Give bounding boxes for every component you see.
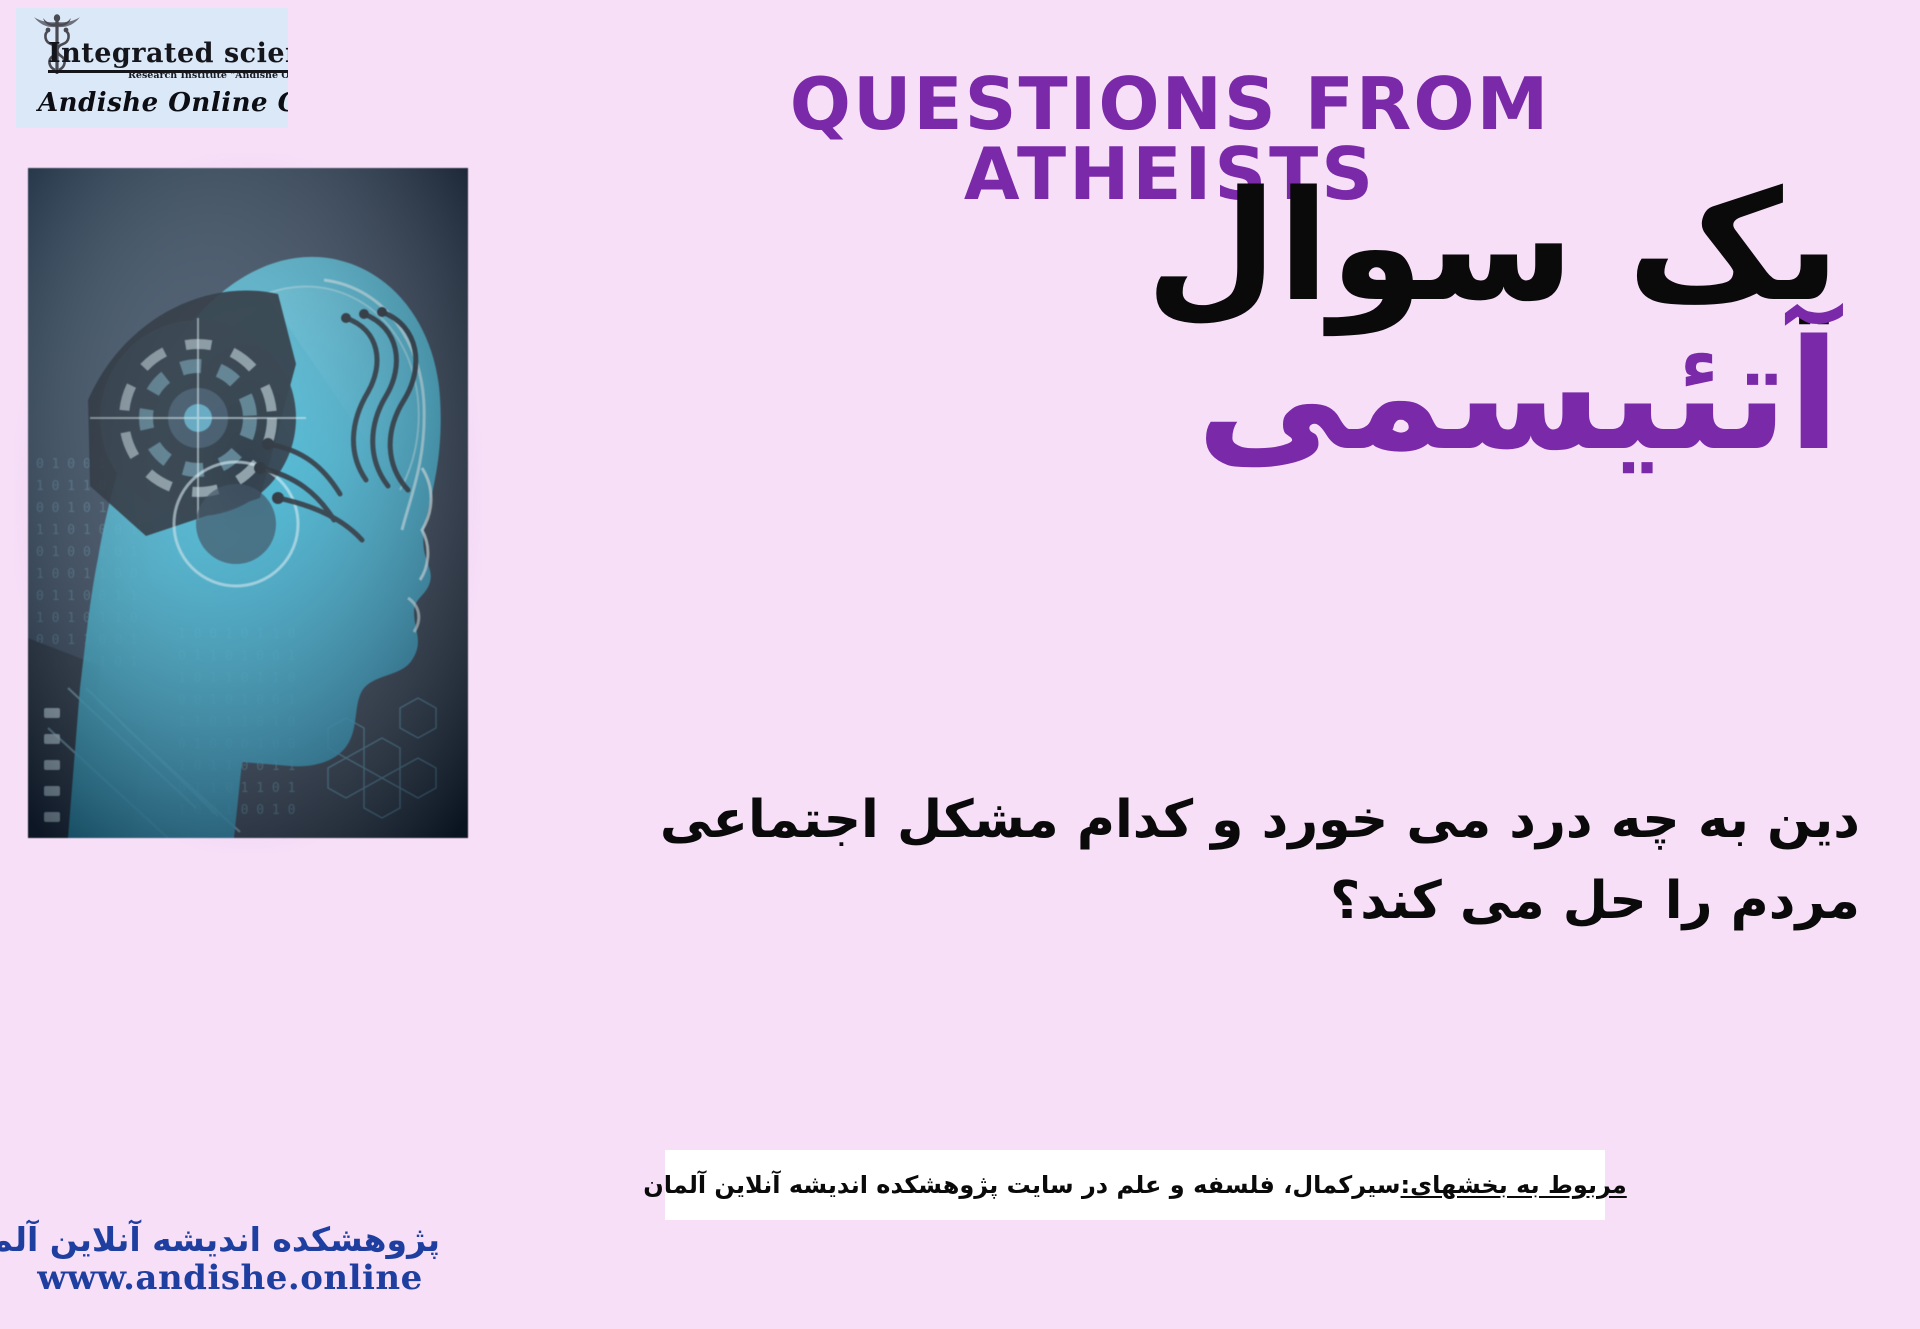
- poster-canvas: Integrated sciences Research Institute "…: [0, 0, 1920, 1329]
- persian-question-line-2: مردم را حل می کند؟: [620, 861, 1860, 942]
- persian-question: دین به چه درد می خورد و کدام مشکل اجتماع…: [620, 780, 1880, 941]
- caption-lead: مربوط به بخشهای:: [1401, 1171, 1627, 1199]
- footer: پژوهشکده اندیشه آنلاین آلمان www.andishe…: [20, 1222, 440, 1297]
- caption-bar: مربوط به بخشهای:سیرکمال، فلسفه و علم در …: [665, 1150, 1605, 1220]
- footer-website-url[interactable]: www.andishe.online: [20, 1259, 440, 1297]
- persian-question-line-1: دین به چه درد می خورد و کدام مشکل اجتماع…: [620, 780, 1860, 861]
- caption-rest: سیرکمال، فلسفه و علم در سایت پژوهشکده ان…: [643, 1171, 1400, 1199]
- artwork-image: 0 1 0 0 1 1 0 1 0 1 1 0 0 1 0 0 1 0 1 1 …: [28, 168, 468, 838]
- footer-organization: پژوهشکده اندیشه آنلاین آلمان: [20, 1222, 440, 1259]
- persian-title: یک سوال آتئیسمی: [480, 160, 1900, 484]
- logo-script-name: Andishe Online Germany: [38, 88, 288, 118]
- ai-robot-artwork: 0 1 0 0 1 1 0 1 0 1 1 0 0 1 0 0 1 0 1 1 …: [28, 168, 468, 838]
- logo-subtitle: Research Institute "Andishe Online Germa…: [128, 70, 288, 81]
- persian-title-word-2: آتئیسمی: [480, 309, 1840, 484]
- caption-text: مربوط به بخشهای:سیرکمال، فلسفه و علم در …: [643, 1171, 1627, 1199]
- logo-block: Integrated sciences Research Institute "…: [16, 8, 288, 128]
- headline-line-1: QUESTIONS FROM: [640, 70, 1700, 140]
- logo-title: Integrated sciences: [48, 38, 288, 73]
